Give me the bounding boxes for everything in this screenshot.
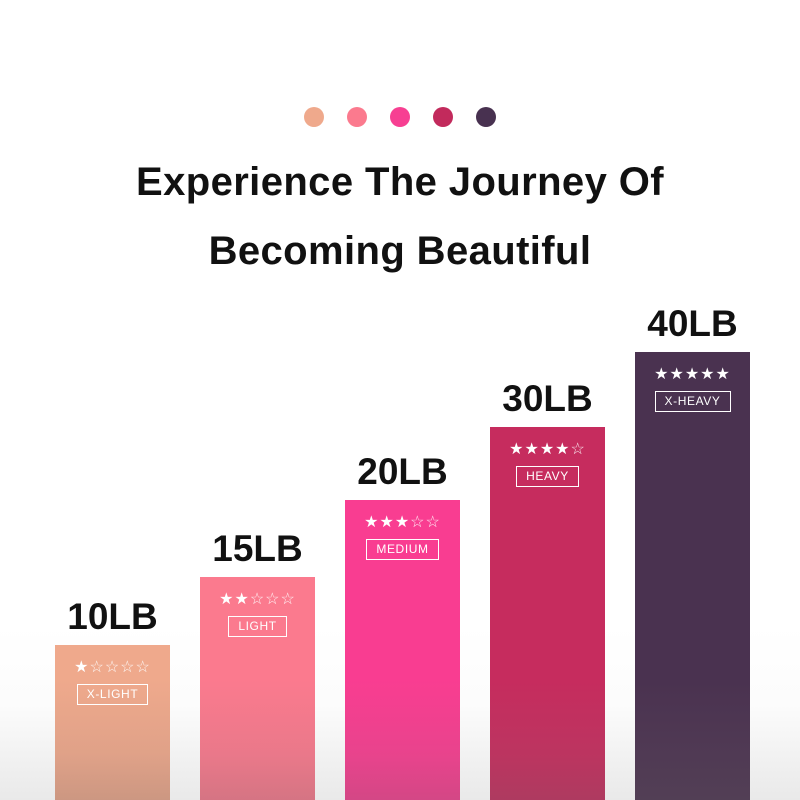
star-filled-icon: ★	[74, 659, 89, 676]
bar-group-x-light[interactable]: 10LB★☆☆☆☆X-LIGHT	[55, 645, 170, 800]
star-filled-icon: ★	[540, 441, 555, 458]
star-empty-icon: ☆	[89, 659, 104, 676]
star-empty-icon: ☆	[105, 659, 120, 676]
star-filled-icon: ★	[716, 366, 731, 383]
star-filled-icon: ★	[654, 366, 669, 383]
star-empty-icon: ☆	[571, 441, 586, 458]
resistance-tag-wrap: LIGHT	[200, 609, 315, 637]
bar-bottom-shading	[635, 680, 750, 800]
bar-badge-block: ★★★☆☆MEDIUM	[345, 514, 460, 560]
star-filled-icon: ★	[700, 366, 715, 383]
bar-30lb[interactable]: ★★★★☆HEAVY	[490, 427, 605, 800]
star-empty-icon: ☆	[265, 591, 280, 608]
resistance-tag-wrap: X-LIGHT	[55, 677, 170, 705]
resistance-tag-light: LIGHT	[228, 616, 286, 637]
star-empty-icon: ☆	[281, 591, 296, 608]
star-empty-icon: ☆	[250, 591, 265, 608]
weight-label-20: 20LB	[339, 452, 466, 492]
star-filled-icon: ★	[669, 366, 684, 383]
star-rating-1-of-5: ★☆☆☆☆	[55, 659, 170, 677]
star-empty-icon: ☆	[136, 659, 151, 676]
bar-badge-block: ★★☆☆☆LIGHT	[200, 591, 315, 637]
bar-bottom-shading	[490, 680, 605, 800]
star-rating-5-of-5: ★★★★★	[635, 366, 750, 384]
star-filled-icon: ★	[395, 514, 410, 531]
resistance-bar-chart: 10LB★☆☆☆☆X-LIGHT15LB★★☆☆☆LIGHT20LB★★★☆☆M…	[0, 0, 800, 800]
star-rating-4-of-5: ★★★★☆	[490, 441, 605, 459]
star-filled-icon: ★	[364, 514, 379, 531]
promo-banner: Experience The Journey Of Becoming Beaut…	[0, 0, 800, 800]
star-filled-icon: ★	[234, 591, 249, 608]
bar-badge-block: ★☆☆☆☆X-LIGHT	[55, 659, 170, 705]
weight-label-10: 10LB	[49, 597, 176, 637]
bar-badge-block: ★★★★★X-HEAVY	[635, 366, 750, 412]
weight-label-15: 15LB	[194, 529, 321, 569]
resistance-tag-medium: MEDIUM	[366, 539, 438, 560]
weight-label-30: 30LB	[484, 379, 611, 419]
resistance-tag-wrap: X-HEAVY	[635, 384, 750, 412]
resistance-tag-wrap: MEDIUM	[345, 532, 460, 560]
star-filled-icon: ★	[685, 366, 700, 383]
bar-group-heavy[interactable]: 30LB★★★★☆HEAVY	[490, 427, 605, 800]
bar-20lb[interactable]: ★★★☆☆MEDIUM	[345, 500, 460, 800]
star-rating-2-of-5: ★★☆☆☆	[200, 591, 315, 609]
star-filled-icon: ★	[379, 514, 394, 531]
bar-badge-block: ★★★★☆HEAVY	[490, 441, 605, 487]
star-filled-icon: ★	[555, 441, 570, 458]
star-empty-icon: ☆	[410, 514, 425, 531]
resistance-tag-x-light: X-LIGHT	[77, 684, 149, 705]
star-rating-3-of-5: ★★★☆☆	[345, 514, 460, 532]
bar-40lb[interactable]: ★★★★★X-HEAVY	[635, 352, 750, 800]
bar-15lb[interactable]: ★★☆☆☆LIGHT	[200, 577, 315, 800]
resistance-tag-x-heavy: X-HEAVY	[655, 391, 731, 412]
star-filled-icon: ★	[524, 441, 539, 458]
bar-10lb[interactable]: ★☆☆☆☆X-LIGHT	[55, 645, 170, 800]
star-filled-icon: ★	[219, 591, 234, 608]
resistance-tag-wrap: HEAVY	[490, 459, 605, 487]
weight-label-40: 40LB	[629, 304, 756, 344]
resistance-tag-heavy: HEAVY	[516, 466, 579, 487]
star-filled-icon: ★	[509, 441, 524, 458]
bar-group-light[interactable]: 15LB★★☆☆☆LIGHT	[200, 577, 315, 800]
bar-bottom-shading	[345, 680, 460, 800]
bar-group-medium[interactable]: 20LB★★★☆☆MEDIUM	[345, 500, 460, 800]
star-empty-icon: ☆	[426, 514, 441, 531]
bar-bottom-shading	[200, 680, 315, 800]
star-empty-icon: ☆	[120, 659, 135, 676]
bar-group-x-heavy[interactable]: 40LB★★★★★X-HEAVY	[635, 352, 750, 800]
